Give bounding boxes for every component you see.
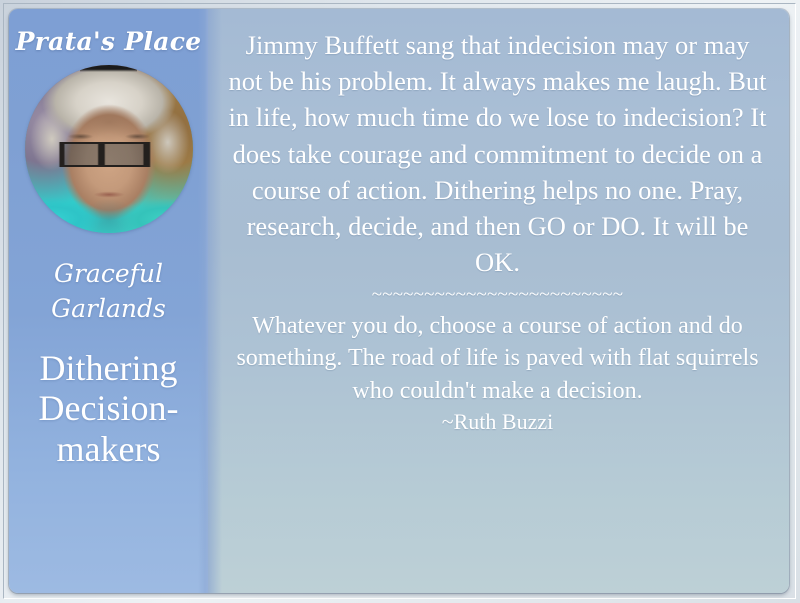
- avatar-mouth: [25, 189, 193, 202]
- poster-headline: Dithering Decision- makers: [35, 348, 183, 469]
- wave-divider: ~~~~~~~~~~~~~~~~~~~~~~~~: [226, 285, 769, 304]
- poster-headline-line-1: Dithering: [39, 348, 179, 388]
- avatar-eyebrows: [25, 132, 193, 140]
- poster-headline-line-2: Decision-: [39, 388, 179, 428]
- poster-headline-line-3: makers: [39, 429, 179, 469]
- quote-attribution: ~Ruth Buzzi: [226, 409, 769, 435]
- eyeglasses-icon: [25, 142, 193, 167]
- poster-frame: Prata's Place Graceful Garlands Ditherin…: [0, 0, 800, 603]
- brand-title: Prata's Place: [16, 29, 202, 54]
- left-sidebar-panel: Prata's Place Graceful Garlands Ditherin…: [9, 9, 208, 593]
- quote-panel: Jimmy Buffett sang that indecision may o…: [208, 9, 789, 593]
- poster-card: Prata's Place Graceful Garlands Ditherin…: [9, 9, 789, 593]
- avatar-top-edge: [80, 65, 137, 72]
- brand-tagline-line-2: Garlands: [51, 292, 166, 327]
- avatar: [25, 65, 193, 233]
- primary-quote-text: Jimmy Buffett sang that indecision may o…: [226, 27, 769, 280]
- brand-tagline: Graceful Garlands: [51, 257, 166, 326]
- brand-tagline-line-1: Graceful: [51, 257, 166, 292]
- secondary-quote-text: Whatever you do, choose a course of acti…: [226, 310, 769, 406]
